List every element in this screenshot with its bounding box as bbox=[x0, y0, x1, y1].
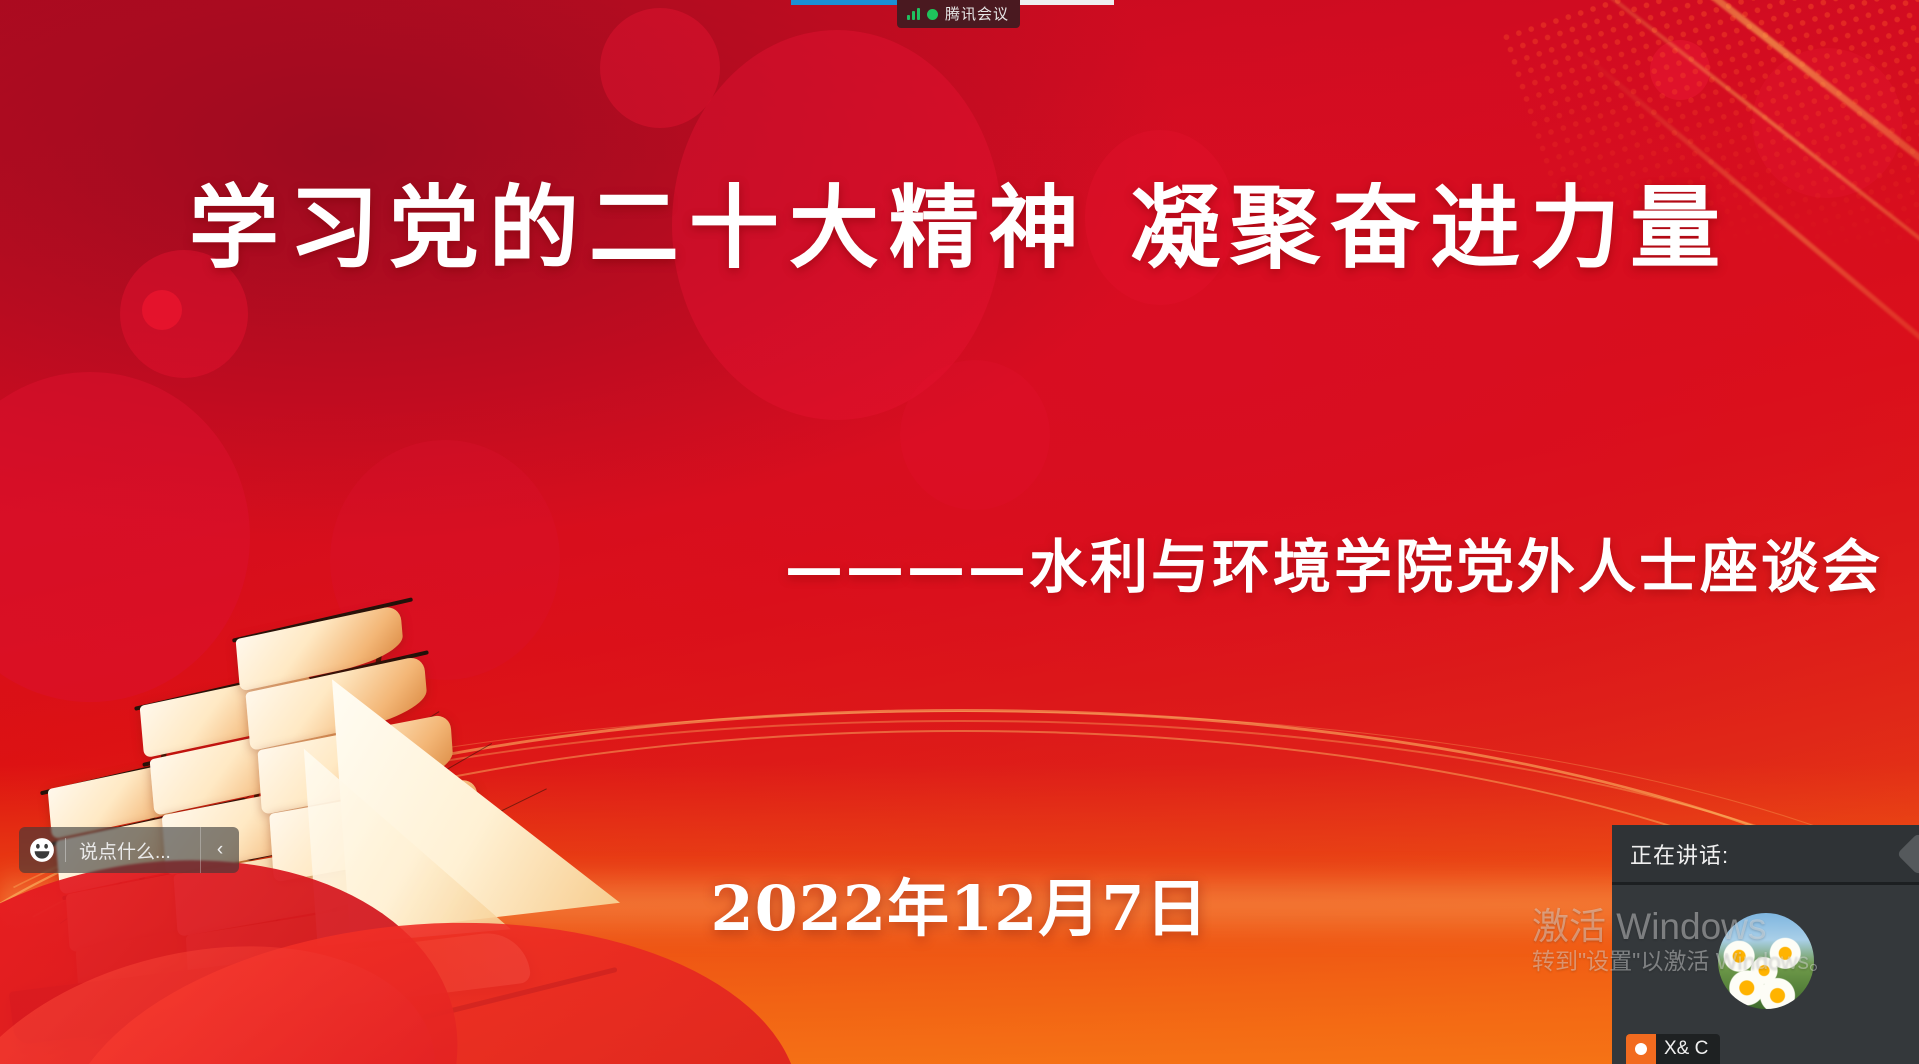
speaker-panel-title: 正在讲话: bbox=[1630, 838, 1729, 870]
signal-bars-icon bbox=[907, 8, 920, 20]
user-avatar-icon bbox=[1626, 1034, 1656, 1064]
chevron-left-icon[interactable]: ‹ bbox=[200, 827, 239, 873]
diamond-handle-icon[interactable] bbox=[1897, 833, 1919, 875]
slide-subtitle: ————水利与环境学院党外人士座谈会 bbox=[785, 520, 1883, 604]
speaker-video-tile[interactable]: X& C bbox=[1612, 885, 1919, 1064]
smiley-face-icon[interactable] bbox=[19, 827, 65, 873]
daisy-flowers-avatar bbox=[1718, 913, 1814, 1009]
chat-input-bar[interactable]: 说点什么... ‹ bbox=[19, 827, 239, 873]
participant-name-badge: X& C bbox=[1626, 1034, 1720, 1064]
green-dot-icon bbox=[927, 9, 938, 20]
slide-title: 学习党的二十大精神 凝聚奋进力量 bbox=[0, 178, 1919, 279]
screen-root: 学习党的二十大精神 凝聚奋进力量 ————水利与环境学院党外人士座谈会 2022… bbox=[0, 0, 1919, 1064]
active-speaker-panel[interactable]: 正在讲话: X& C bbox=[1612, 825, 1919, 1064]
tencent-meeting-label: 腾讯会议 bbox=[945, 7, 1009, 22]
chat-input-placeholder[interactable]: 说点什么... bbox=[66, 837, 200, 864]
tencent-meeting-badge[interactable]: 腾讯会议 bbox=[897, 0, 1020, 28]
speaker-panel-header: 正在讲话: bbox=[1612, 825, 1919, 882]
participant-name: X& C bbox=[1656, 1038, 1720, 1060]
